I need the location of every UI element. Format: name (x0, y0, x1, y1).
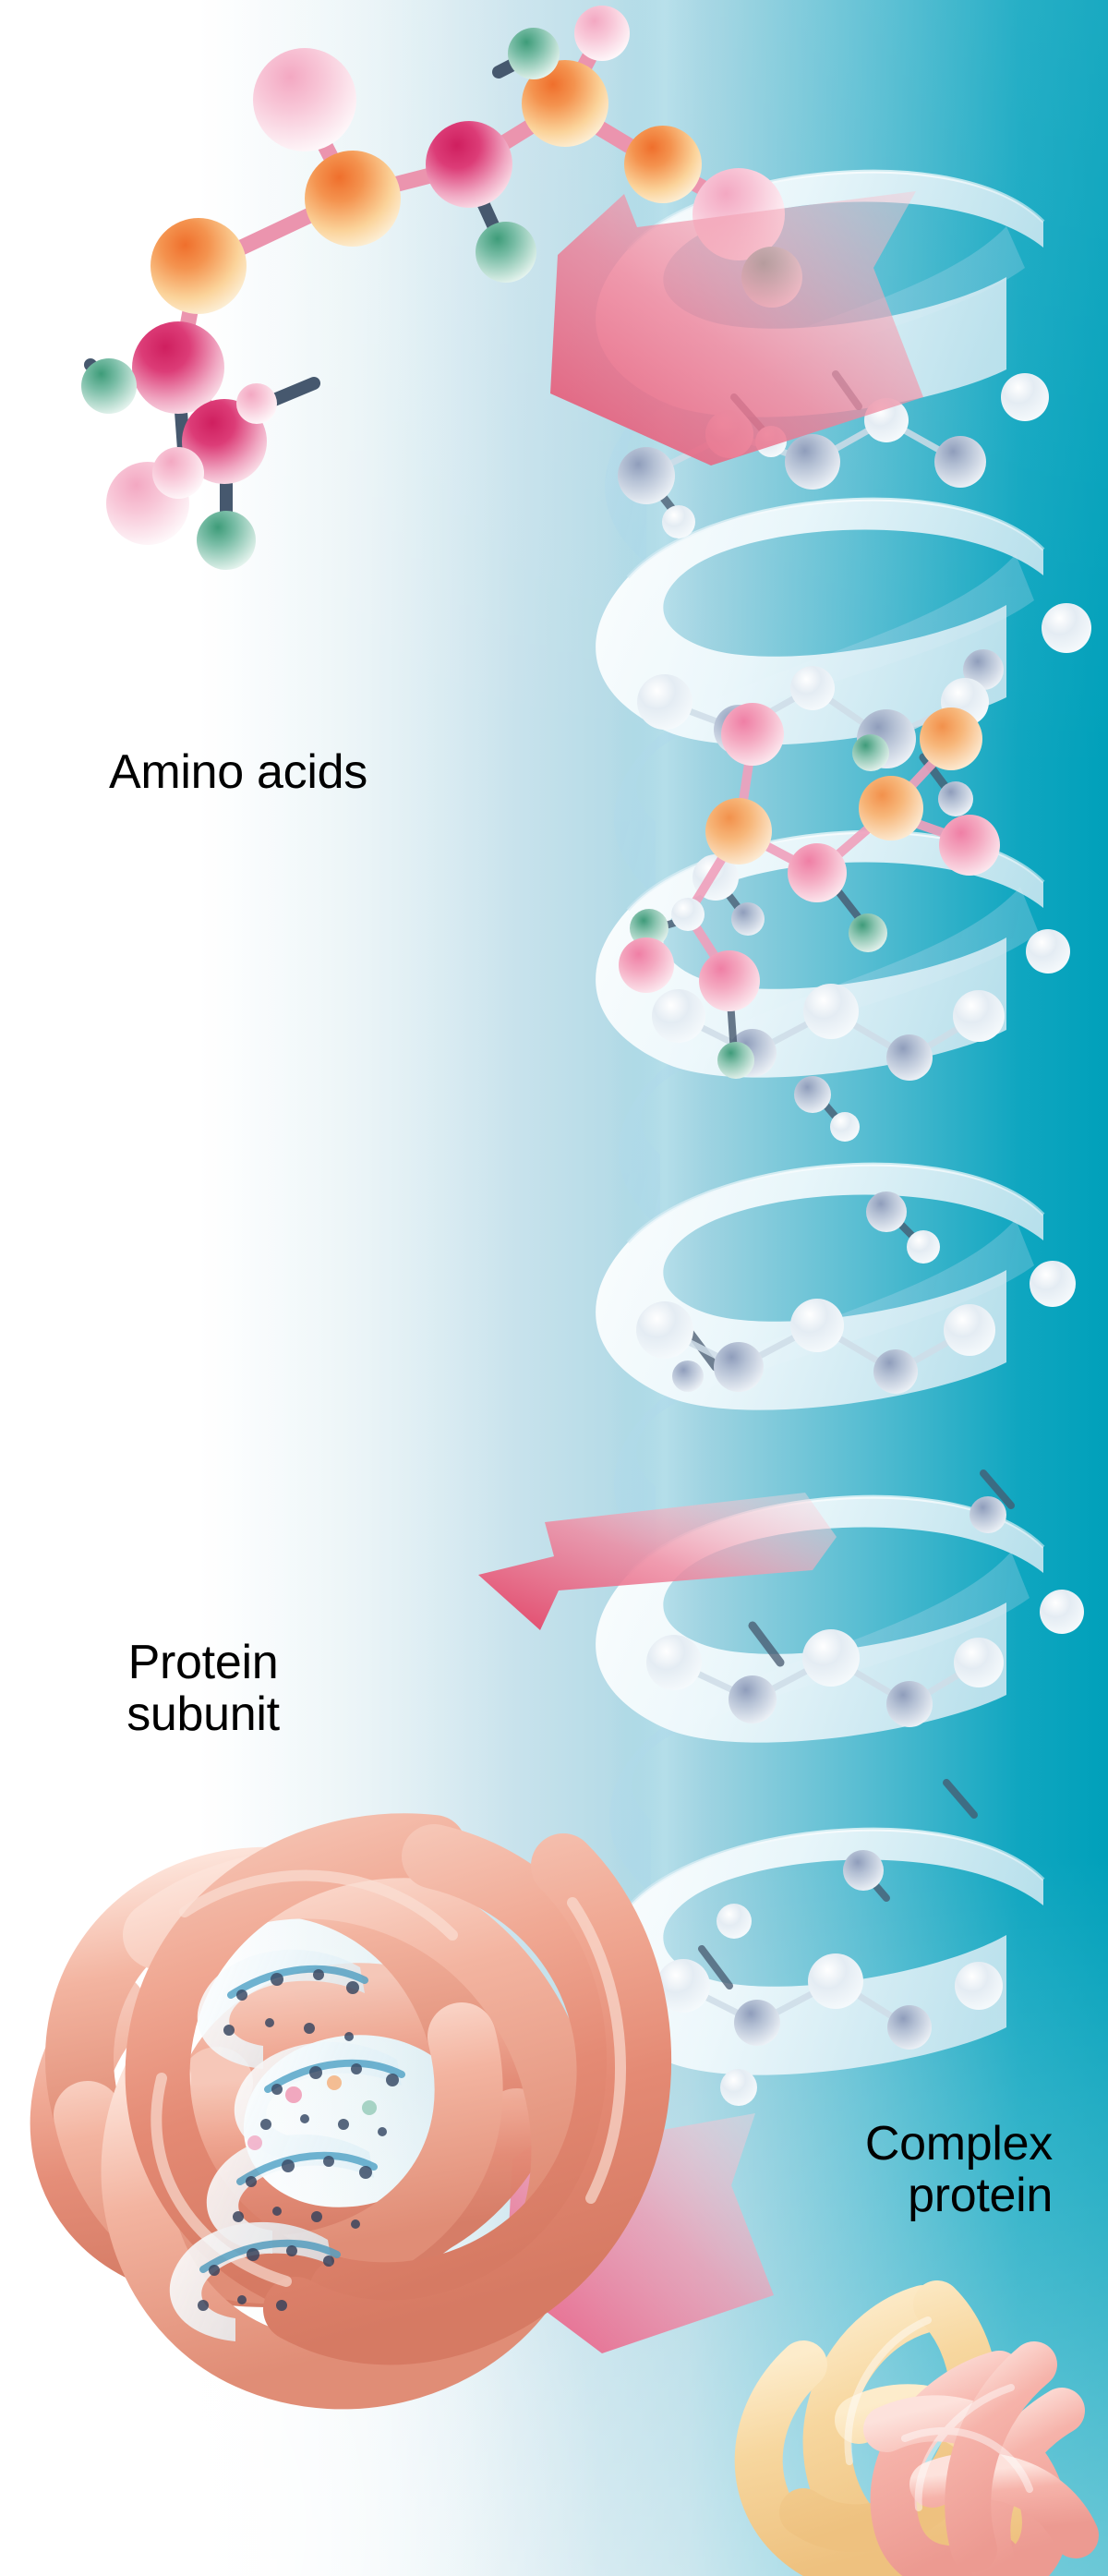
label-amino-acids: Amino acids (109, 746, 367, 798)
label-protein-subunit: Protein subunit (78, 1637, 328, 1740)
protein-structure-figure: Amino acids Protein subunit Complex prot… (0, 0, 1108, 2576)
label-complex-protein: Complex protein (646, 2118, 1053, 2221)
